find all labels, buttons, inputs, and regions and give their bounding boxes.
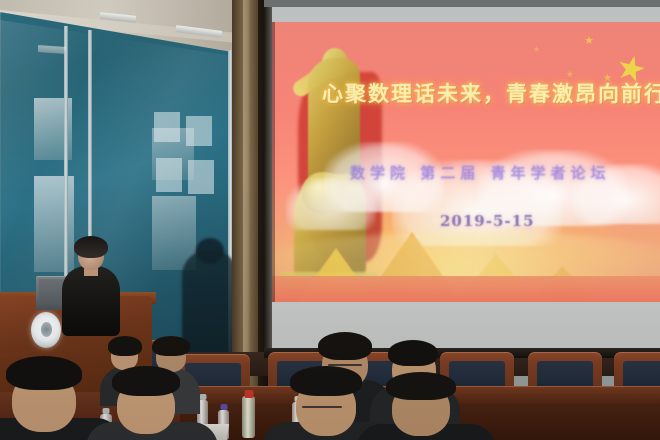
- attendee-hair: [112, 366, 180, 396]
- speaker-hair: [74, 236, 108, 258]
- projection-left-edge: [272, 22, 275, 302]
- room-background: ★ ★ ★ ★ ★ 心聚数理: [0, 0, 660, 440]
- bottle-cap: [244, 390, 253, 398]
- attendee-hair: [152, 336, 190, 356]
- window-pane: [188, 160, 214, 194]
- attendee-hair: [108, 336, 142, 356]
- mountain-base-band: [272, 276, 660, 302]
- attendee: [282, 366, 372, 440]
- conference-room-photo: ★ ★ ★ ★ ★ 心聚数理: [0, 0, 660, 440]
- bottle-cap: [199, 394, 206, 400]
- star-icon: ★: [584, 36, 594, 47]
- bottle-cap: [220, 404, 227, 410]
- mountains-graphic: [272, 194, 660, 302]
- slide-date: 2019-5-15: [440, 212, 535, 230]
- window-pane: [186, 116, 212, 146]
- speaker-torso: [62, 266, 120, 336]
- window-pane: [154, 112, 180, 142]
- wall-column-highlight: [243, 0, 250, 400]
- screen-frame-left: [264, 0, 272, 352]
- attendee-hair: [6, 356, 82, 390]
- attendee-hair: [290, 366, 362, 396]
- attendee-hair: [318, 332, 372, 360]
- attendee-hair: [388, 340, 438, 366]
- projected-slide: ★ ★ ★ ★ ★ 心聚数理: [272, 22, 660, 302]
- glasses-icon: [302, 406, 342, 408]
- attendee: [378, 372, 466, 440]
- slide-title: 心聚数理话未来，青春激昂向前行: [322, 78, 660, 108]
- podium-emblem-center: [41, 322, 52, 337]
- slide-subtitle: 数学院 第二届 青年学者论坛: [350, 162, 650, 183]
- attendee-hair: [386, 372, 456, 400]
- window-pane: [156, 158, 182, 192]
- screen-frame-top: [264, 0, 660, 7]
- star-icon: ★: [533, 46, 540, 54]
- bottle-body: [242, 396, 255, 438]
- attendee: [104, 366, 190, 440]
- speaker-person: [62, 240, 120, 332]
- beverage-bottle: [242, 390, 255, 438]
- attendee: [0, 356, 92, 440]
